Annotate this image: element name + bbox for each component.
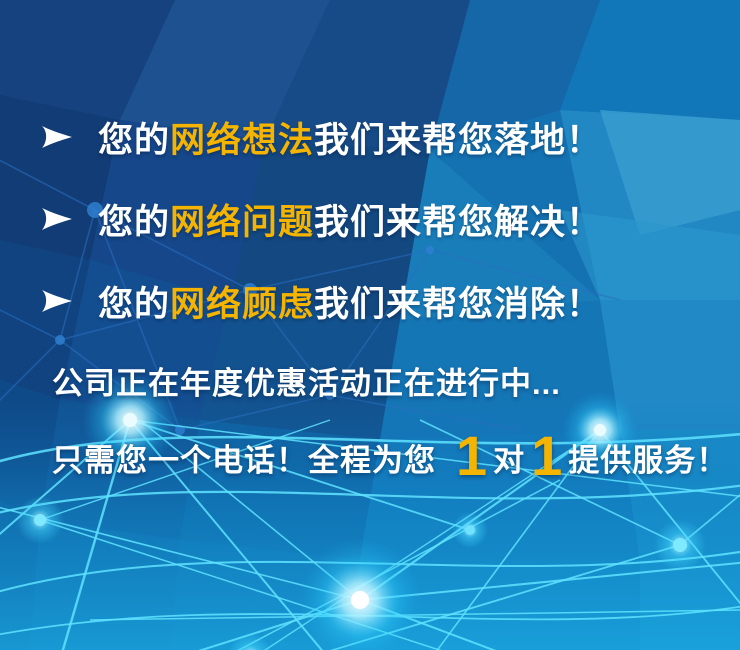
bullet-pre: 您的 [98, 203, 170, 242]
bullet-pre: 您的 [98, 285, 170, 324]
bullet-post: 我们来帮您解决！ [314, 203, 602, 242]
bullet-highlight: 网络问题 [170, 203, 314, 242]
one-to-one-connector: 对 [493, 435, 525, 480]
list-item: 您的网络想法我们来帮您落地！ [0, 96, 740, 178]
banner-content: 您的网络想法我们来帮您落地！ 您的网络问题我们来帮您解决！ 您的网络顾虑我们来帮… [0, 0, 740, 650]
arrow-right-icon [40, 286, 74, 316]
promo-subtext-line-2: 只需您一个电话！全程为您 1 对 1 提供服务！ [52, 424, 728, 480]
bullet-post: 我们来帮您消除！ [314, 285, 602, 324]
bullet-highlight: 网络想法 [170, 121, 314, 160]
list-item: 您的网络顾虑我们来帮您消除！ [0, 260, 740, 342]
arrow-right-icon [40, 122, 74, 152]
bullet-text: 您的网络问题我们来帮您解决！ [98, 194, 602, 245]
bullet-highlight: 网络顾虑 [170, 285, 314, 324]
bullet-pre: 您的 [98, 121, 170, 160]
arrow-right-icon [40, 204, 74, 234]
one-to-one-first-digit: 1 [450, 428, 493, 484]
list-item: 您的网络问题我们来帮您解决！ [0, 178, 740, 260]
service-text-after: 提供服务！ [568, 435, 728, 480]
one-to-one-second-digit: 1 [525, 428, 568, 484]
bullet-post: 我们来帮您落地！ [314, 121, 602, 160]
service-text-before: 只需您一个电话！全程为您 [52, 435, 436, 480]
bullet-text: 您的网络想法我们来帮您落地！ [98, 112, 602, 163]
promo-subtext-line-1: 公司正在年度优惠活动正在进行中... [52, 358, 561, 403]
promo-banner: 您的网络想法我们来帮您落地！ 您的网络问题我们来帮您解决！ 您的网络顾虑我们来帮… [0, 0, 740, 650]
bullet-list: 您的网络想法我们来帮您落地！ 您的网络问题我们来帮您解决！ 您的网络顾虑我们来帮… [0, 96, 740, 342]
bullet-text: 您的网络顾虑我们来帮您消除！ [98, 276, 602, 327]
